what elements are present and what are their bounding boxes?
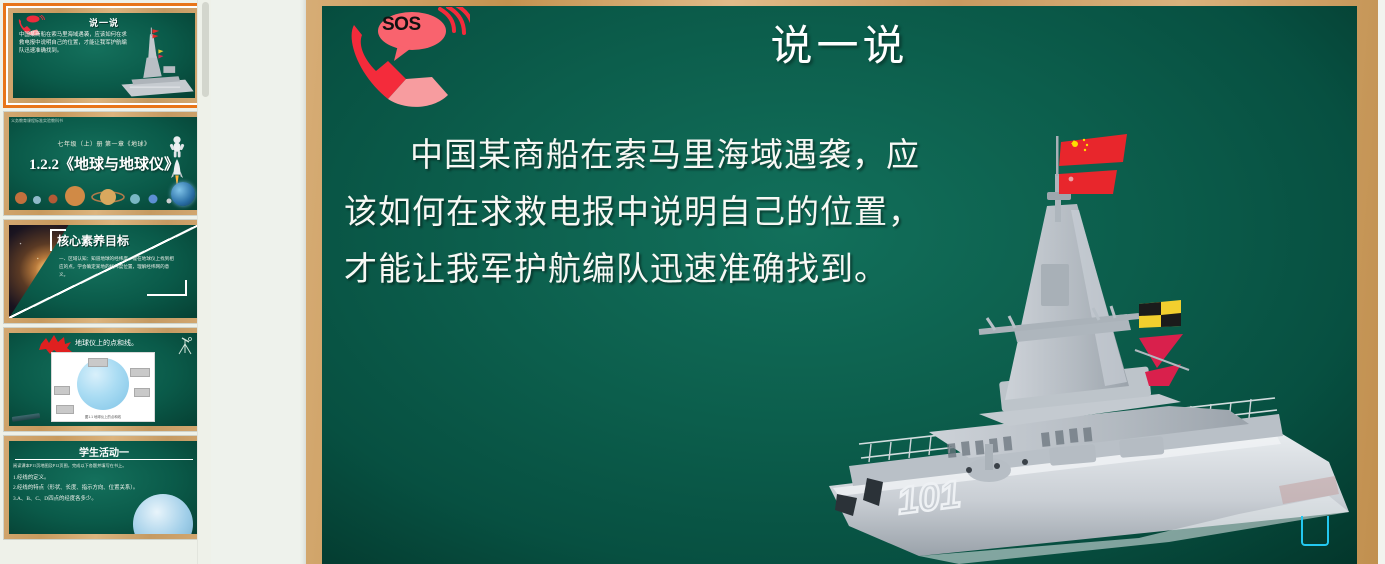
- title-underline: [15, 459, 193, 460]
- chalkboard-frame: 学生活动一 阅读课本P11页地图及P12页图，完成以下各题并填写在书上。 1.经…: [4, 436, 204, 539]
- label-box: [56, 405, 74, 414]
- right-edge-strip: [1378, 0, 1385, 564]
- slide-thumbnail-1[interactable]: 说一说 中国某商船在索马里海域遇袭，应该如何在求救电报中说明自己的位置，才能让我…: [3, 3, 205, 108]
- thumbnail-title: 地球仪上的点和线。: [75, 338, 138, 348]
- list-item: 1.经线的定义。: [13, 473, 138, 483]
- ruler-icon: [12, 413, 40, 422]
- chalkboard-frame: 义务教育课程标准实验教科书 七年级（上）册 第一章《地球》 1.2.2《地球与地…: [4, 112, 204, 215]
- thumbnail-title: 核心素养目标: [57, 232, 129, 249]
- thumbnail-content: 义务教育课程标准实验教科书 七年级（上）册 第一章《地球》 1.2.2《地球与地…: [4, 112, 204, 215]
- thumbnail-title: 学生活动一: [9, 444, 199, 459]
- thumbnail-content: 核心素养目标 一、区域认知：知道地球的经纬度，能在地球仪上找到相应的点，学会确定…: [4, 220, 204, 323]
- title-bracket-top: [50, 229, 66, 231]
- astronaut-icon: [169, 135, 185, 159]
- chalkboard-frame: 说一说 中国某商船在索马里海域遇袭，应该如何在求救电报中说明自己的位置，才能让我…: [8, 8, 200, 103]
- chalkboard: 义务教育课程标准实验教科书 七年级（上）册 第一章《地球》 1.2.2《地球与地…: [9, 117, 199, 210]
- slide-wood-frame: SOS 说一说 中国某商船在索马里海域遇袭，应该如何在求救电报中说明自己的位置，…: [306, 0, 1379, 564]
- presentation-window: 说一说 中国某商船在索马里海域遇袭，应该如何在求救电报中说明自己的位置，才能让我…: [0, 0, 1385, 564]
- earth-globe: [171, 182, 195, 206]
- thumbnail-body: 一、区域认知：知道地球的经纬度，能在地球仪上找到相应的点，学会确定某地的经纬度位…: [59, 255, 174, 278]
- thumbnail-content: 说一说 中国某商船在索马里海域遇袭，应该如何在求救电报中说明自己的位置，才能让我…: [8, 8, 200, 103]
- slide-thumbnail-2[interactable]: 义务教育课程标准实验教科书 七年级（上）册 第一章《地球》 1.2.2《地球与地…: [3, 111, 205, 216]
- title-bracket: [50, 229, 52, 251]
- panel-divider: [211, 0, 306, 564]
- slide-chalkboard: SOS 说一说 中国某商船在索马里海域遇袭，应该如何在求救电报中说明自己的位置，…: [322, 6, 1357, 564]
- warship-image[interactable]: 101: [809, 114, 1349, 564]
- chalkboard: 学生活动一 阅读课本P11页地图及P12页图，完成以下各题并填写在书上。 1.经…: [9, 441, 199, 534]
- planets-row: [13, 185, 183, 207]
- slide-thumbnail-panel[interactable]: 说一说 中国某商船在索马里海域遇袭，应该如何在求救电报中说明自己的位置，才能让我…: [0, 0, 211, 564]
- chalkboard-frame: 地球仪上的点和线。: [4, 328, 204, 431]
- label-box: [88, 358, 108, 367]
- thumbnail-list: 1.经线的定义。 2.经线的特点（形状、长度、指示方向、位置关系）。 3.A、B…: [13, 473, 138, 504]
- image-selection-handle[interactable]: [1301, 516, 1329, 546]
- figure-caption: 图1.1 地球仪上的点和线: [52, 414, 154, 419]
- label-box: [130, 368, 150, 377]
- starburst-icon: [39, 334, 73, 354]
- arrow-decoration: [147, 294, 187, 296]
- thumbnail-content: 学生活动一 阅读课本P11页地图及P12页图，完成以下各题并填写在书上。 1.经…: [4, 436, 204, 539]
- label-box: [134, 388, 150, 397]
- chalkboard: 地球仪上的点和线。: [9, 333, 199, 426]
- list-item: 3.A、B、C、D四点的经度各多少。: [13, 494, 138, 504]
- scrollbar-thumb[interactable]: [202, 2, 209, 97]
- slide-thumbnail-5[interactable]: 学生活动一 阅读课本P11页地图及P12页图，完成以下各题并填写在书上。 1.经…: [3, 435, 205, 540]
- thumbnail-body: 中国某商船在索马里海域遇袭，应该如何在求救电报中说明自己的位置，才能让我军护航编…: [19, 32, 127, 55]
- warship-image: [113, 24, 195, 98]
- chalkboard: 核心素养目标 一、区域认知：知道地球的经纬度，能在地球仪上找到相应的点，学会确定…: [9, 225, 199, 318]
- thumbnail-content: 地球仪上的点和线。: [4, 328, 204, 431]
- thumbnail-corner-tag: 义务教育课程标准实验教科书: [11, 118, 63, 124]
- globe-diagram: 图1.1 地球仪上的点和线: [51, 352, 155, 422]
- hull-number: 101: [895, 474, 963, 523]
- slide-stage: SOS 说一说 中国某商船在索马里海域遇袭，应该如何在求救电报中说明自己的位置，…: [306, 0, 1385, 564]
- list-item: 2.经线的特点（形状、长度、指示方向、位置关系）。: [13, 483, 138, 493]
- slide-thumbnail-3[interactable]: 核心素养目标 一、区域认知：知道地球的经纬度，能在地球仪上找到相应的点，学会确定…: [3, 219, 205, 324]
- slide-title[interactable]: 说一说: [322, 12, 1357, 73]
- thumbnail-panel-scrollbar[interactable]: [197, 0, 211, 564]
- label-box: [54, 386, 70, 395]
- globe-diagram: [133, 494, 193, 534]
- china-flag: [1059, 134, 1127, 166]
- arrow-decoration-vertical: [185, 280, 187, 296]
- chalkboard: 说一说 中国某商船在索马里海域遇袭，应该如何在求救电报中说明自己的位置，才能让我…: [13, 13, 195, 98]
- telescope-icon: [175, 336, 195, 356]
- slide-thumbnail-4[interactable]: 地球仪上的点和线。: [3, 327, 205, 432]
- china-flag-2: [1059, 170, 1117, 194]
- thumbnail-lead: 阅读课本P11页地图及P12页图，完成以下各题并填写在书上。: [13, 463, 126, 469]
- chalkboard-frame: 核心素养目标 一、区域认知：知道地球的经纬度，能在地球仪上找到相应的点，学会确定…: [4, 220, 204, 323]
